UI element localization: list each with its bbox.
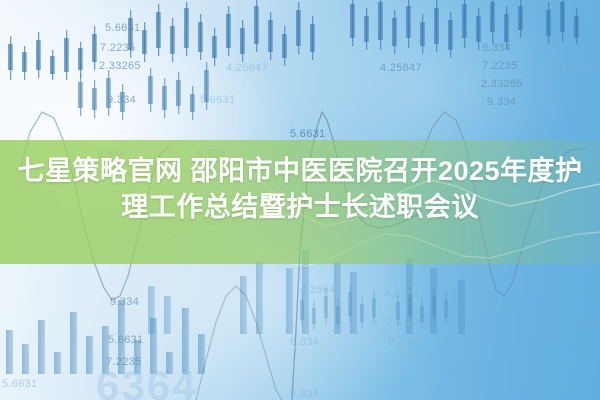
chart-value-label: 5.6631 (290, 128, 325, 140)
chart-value-label: 9.334 (107, 94, 136, 106)
chart-value-label: 2.33265 (386, 316, 428, 328)
chart-value-label: 7.2235 (482, 60, 517, 72)
chart-value-label: 4.25647 (300, 284, 342, 296)
chart-value-label: 2.3 (582, 318, 598, 330)
chart-value-label: 2.33265 (99, 60, 141, 72)
chart-value-label: 5.6631 (108, 334, 143, 346)
chart-value-label: 5.6631 (2, 378, 37, 390)
chart-value-label: 4.25647 (380, 62, 422, 74)
chart-watermark-number: 6364 (96, 362, 197, 400)
chart-value-label: 9.334 (487, 96, 516, 108)
chart-value-label: 2.33265 (481, 78, 523, 90)
chart-value-label: 9.334 (388, 336, 417, 348)
page-title-line-1: 七星策略官网 邵阳市中医医院召开2025年度护 (0, 154, 600, 190)
chart-value-label: 4.25647 (560, 62, 600, 74)
chart-value-label: 9.334 (482, 42, 511, 54)
chart-value-label: 9.334 (110, 296, 139, 308)
chart-value-label: 5.6631 (200, 94, 235, 106)
chart-value-label: 4.25647 (226, 62, 268, 74)
cover-banner: 5.66317.22352.332659.3345.66314.256474.2… (0, 0, 600, 400)
chart-value-label: 9.334 (290, 388, 319, 400)
chart-value-label: 9. (584, 338, 594, 350)
chart-value-label: 7.2235 (100, 42, 135, 54)
chart-value-label: 5.6631 (105, 22, 140, 34)
chart-value-label: 4.2 (582, 290, 598, 302)
chart-value-label: 4.25647 (384, 288, 426, 300)
page-title-line-2: 理工作总结暨护士长述职会议 (0, 190, 600, 226)
page-title: 七星策略官网 邵阳市中医医院召开2025年度护 理工作总结暨护士长述职会议 (0, 154, 600, 225)
chart-value-label: 9.334 (290, 336, 319, 348)
